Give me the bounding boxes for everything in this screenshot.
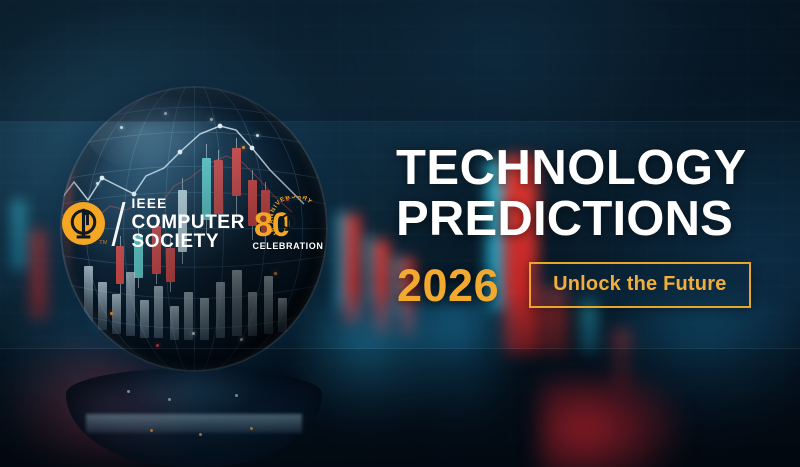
reflection-speck [235, 394, 238, 397]
reflection-speck [199, 433, 202, 436]
logo-computer-text: COMPUTER [132, 213, 246, 232]
banner-stage: TM IEEE COMPUTER SOCIETY 80 [0, 0, 800, 467]
reflection-speck [168, 398, 171, 401]
subtitle-row: 2026 Unlock the Future [397, 262, 751, 308]
logo-society-text: SOCIETY [132, 232, 246, 251]
logo-ieee-text: IEEE [132, 197, 246, 211]
80th-anniversary-badge: 80 th ANNIVERSARY CELEBRATION [252, 196, 324, 252]
unlock-the-future-button[interactable]: Unlock the Future [529, 262, 750, 308]
logo-computer-society-text: COMPUTER SOCIETY [132, 213, 246, 251]
background-red-glow [540, 380, 690, 467]
headline-line-1: TECHNOLOGY [396, 141, 747, 195]
logo-wordmark: IEEE COMPUTER SOCIETY [132, 197, 246, 251]
reflection-highlight-band [86, 414, 301, 434]
headline-line-2: PREDICTIONS [396, 194, 788, 245]
page-title: TECHNOLOGY PREDICTIONS [396, 143, 788, 245]
svg-text:CELEBRATION: CELEBRATION [253, 241, 324, 251]
year-label: 2026 [397, 263, 499, 308]
logo-divider-slash [112, 202, 125, 246]
reflection-speck [127, 390, 130, 393]
ieee-computer-society-logo[interactable]: TM IEEE COMPUTER SOCIETY [60, 197, 245, 251]
svg-text:TM: TM [99, 240, 107, 246]
ieee-cs-mark-icon: TM [60, 200, 107, 247]
